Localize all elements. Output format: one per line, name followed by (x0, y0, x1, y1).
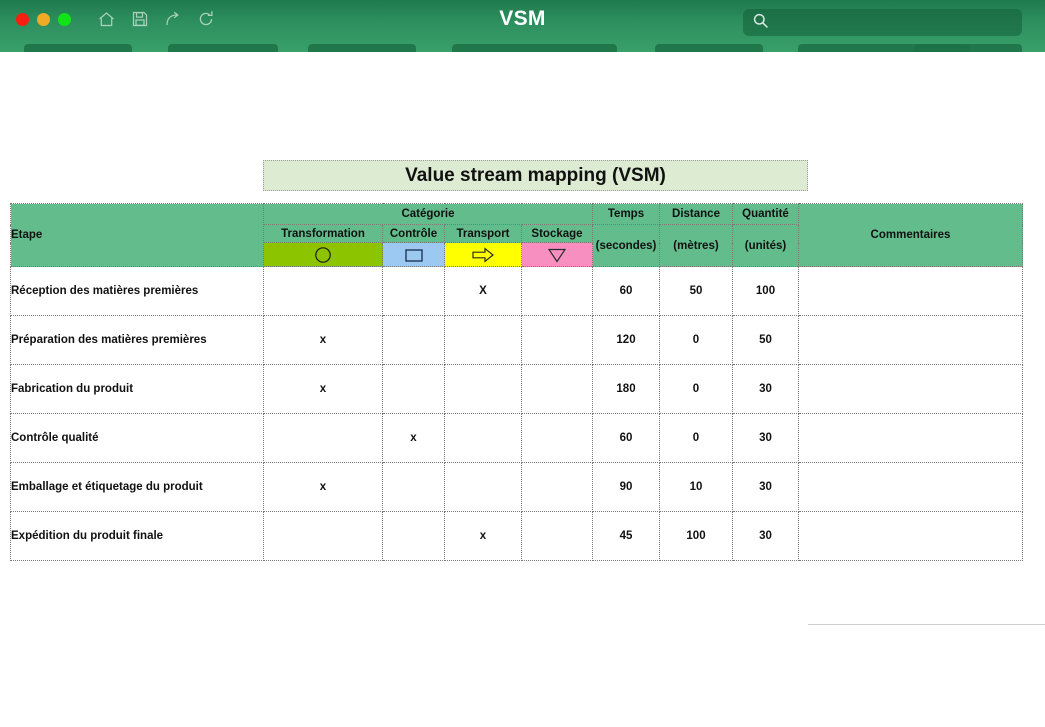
menu-tab-7[interactable] (914, 44, 1022, 52)
column-header-temps: Temps (593, 204, 660, 225)
menu-tab-2[interactable] (168, 44, 278, 52)
table-row[interactable]: Préparation des matières premières x 120… (11, 316, 1023, 365)
cell-quantite[interactable]: 50 (733, 316, 799, 365)
cell-etape: Réception des matières premières (11, 267, 264, 316)
cell-controle[interactable] (383, 512, 445, 561)
cell-transport[interactable] (445, 316, 522, 365)
cell-controle[interactable] (383, 463, 445, 512)
menu-tab-3[interactable] (308, 44, 416, 52)
column-header-categorie: Catégorie (264, 204, 593, 225)
cell-temps[interactable]: 60 (593, 414, 660, 463)
table-row[interactable]: Fabrication du produit x 180 0 30 (11, 365, 1023, 414)
window-toolbar: VSM (0, 0, 1045, 52)
share-icon[interactable] (163, 10, 182, 29)
search-icon (752, 12, 769, 34)
cell-transformation[interactable] (264, 267, 383, 316)
cell-transformation[interactable] (264, 512, 383, 561)
cell-distance[interactable]: 10 (660, 463, 733, 512)
table-row[interactable]: Expédition du produit finale x 45 100 30 (11, 512, 1023, 561)
cell-etape: Préparation des matières premières (11, 316, 264, 365)
cell-commentaires[interactable] (799, 365, 1023, 414)
cell-etape: Expédition du produit finale (11, 512, 264, 561)
menu-tab-5[interactable] (655, 44, 763, 52)
unit-label-quantite: (unités) (733, 225, 799, 267)
menu-tab-4[interactable] (452, 44, 617, 52)
table-row[interactable]: Réception des matières premières X 60 50… (11, 267, 1023, 316)
cell-temps[interactable]: 45 (593, 512, 660, 561)
cell-etape: Contrôle qualité (11, 414, 264, 463)
maximize-button[interactable] (58, 13, 71, 26)
cell-distance[interactable]: 0 (660, 316, 733, 365)
cell-commentaires[interactable] (799, 463, 1023, 512)
column-header-controle: Contrôle (383, 225, 445, 243)
column-header-quantite: Quantité (733, 204, 799, 225)
cell-controle[interactable] (383, 365, 445, 414)
cell-quantite[interactable]: 100 (733, 267, 799, 316)
cell-distance[interactable]: 0 (660, 414, 733, 463)
cell-transport[interactable]: X (445, 267, 522, 316)
vsm-table-body: Réception des matières premières X 60 50… (11, 267, 1023, 561)
column-header-stockage: Stockage (522, 225, 593, 243)
square-symbol (383, 243, 445, 267)
menu-tab-strip (0, 44, 1045, 52)
cell-distance[interactable]: 0 (660, 365, 733, 414)
triangle-symbol (522, 243, 593, 267)
unit-label-temps: (secondes) (593, 225, 660, 267)
table-row[interactable]: Contrôle qualité x 60 0 30 (11, 414, 1023, 463)
cell-temps[interactable]: 120 (593, 316, 660, 365)
cell-stockage[interactable] (522, 512, 593, 561)
save-icon[interactable] (130, 10, 149, 29)
cell-transformation[interactable] (264, 414, 383, 463)
close-button[interactable] (16, 13, 29, 26)
search-input[interactable] (743, 9, 1022, 36)
cell-etape: Emballage et étiquetage du produit (11, 463, 264, 512)
cell-distance[interactable]: 100 (660, 512, 733, 561)
vsm-table: Etape Catégorie Temps Distance Quantité … (10, 203, 1023, 561)
column-header-transport: Transport (445, 225, 522, 243)
traffic-light-group (16, 13, 71, 26)
cell-stockage[interactable] (522, 316, 593, 365)
table-row[interactable]: Emballage et étiquetage du produit x 90 … (11, 463, 1023, 512)
refresh-icon[interactable] (196, 10, 215, 29)
cell-transport[interactable]: x (445, 512, 522, 561)
document-title-banner: Value stream mapping (VSM) (263, 160, 808, 191)
cell-stockage[interactable] (522, 463, 593, 512)
column-header-etape: Etape (11, 204, 264, 267)
cell-stockage[interactable] (522, 414, 593, 463)
column-header-commentaires: Commentaires (799, 204, 1023, 267)
sheet-baseline-rule (808, 624, 1045, 625)
cell-quantite[interactable]: 30 (733, 414, 799, 463)
cell-transport[interactable] (445, 414, 522, 463)
cell-quantite[interactable]: 30 (733, 463, 799, 512)
cell-quantite[interactable]: 30 (733, 512, 799, 561)
cell-transformation[interactable]: x (264, 316, 383, 365)
cell-commentaires[interactable] (799, 267, 1023, 316)
circle-symbol (264, 243, 383, 267)
toolbar-icon-group (97, 10, 215, 29)
document-sheet: Value stream mapping (VSM) Etape Catégor… (0, 52, 1045, 727)
page-title: Value stream mapping (VSM) (405, 165, 666, 187)
cell-transformation[interactable]: x (264, 463, 383, 512)
cell-etape: Fabrication du produit (11, 365, 264, 414)
cell-temps[interactable]: 60 (593, 267, 660, 316)
cell-controle[interactable] (383, 267, 445, 316)
cell-stockage[interactable] (522, 365, 593, 414)
cell-controle[interactable]: x (383, 414, 445, 463)
cell-commentaires[interactable] (799, 316, 1023, 365)
menu-tab-1[interactable] (24, 44, 132, 52)
cell-distance[interactable]: 50 (660, 267, 733, 316)
cell-temps[interactable]: 180 (593, 365, 660, 414)
arrow-symbol (445, 243, 522, 267)
cell-commentaires[interactable] (799, 414, 1023, 463)
cell-controle[interactable] (383, 316, 445, 365)
header-row-top: Etape Catégorie Temps Distance Quantité … (11, 204, 1023, 225)
minimize-button[interactable] (37, 13, 50, 26)
column-header-transformation: Transformation (264, 225, 383, 243)
home-icon[interactable] (97, 10, 116, 29)
cell-commentaires[interactable] (799, 512, 1023, 561)
column-header-distance: Distance (660, 204, 733, 225)
unit-label-distance: (mètres) (660, 225, 733, 267)
cell-transport[interactable] (445, 463, 522, 512)
cell-temps[interactable]: 90 (593, 463, 660, 512)
cell-stockage[interactable] (522, 267, 593, 316)
cell-transport[interactable] (445, 365, 522, 414)
cell-quantite[interactable]: 30 (733, 365, 799, 414)
cell-transformation[interactable]: x (264, 365, 383, 414)
